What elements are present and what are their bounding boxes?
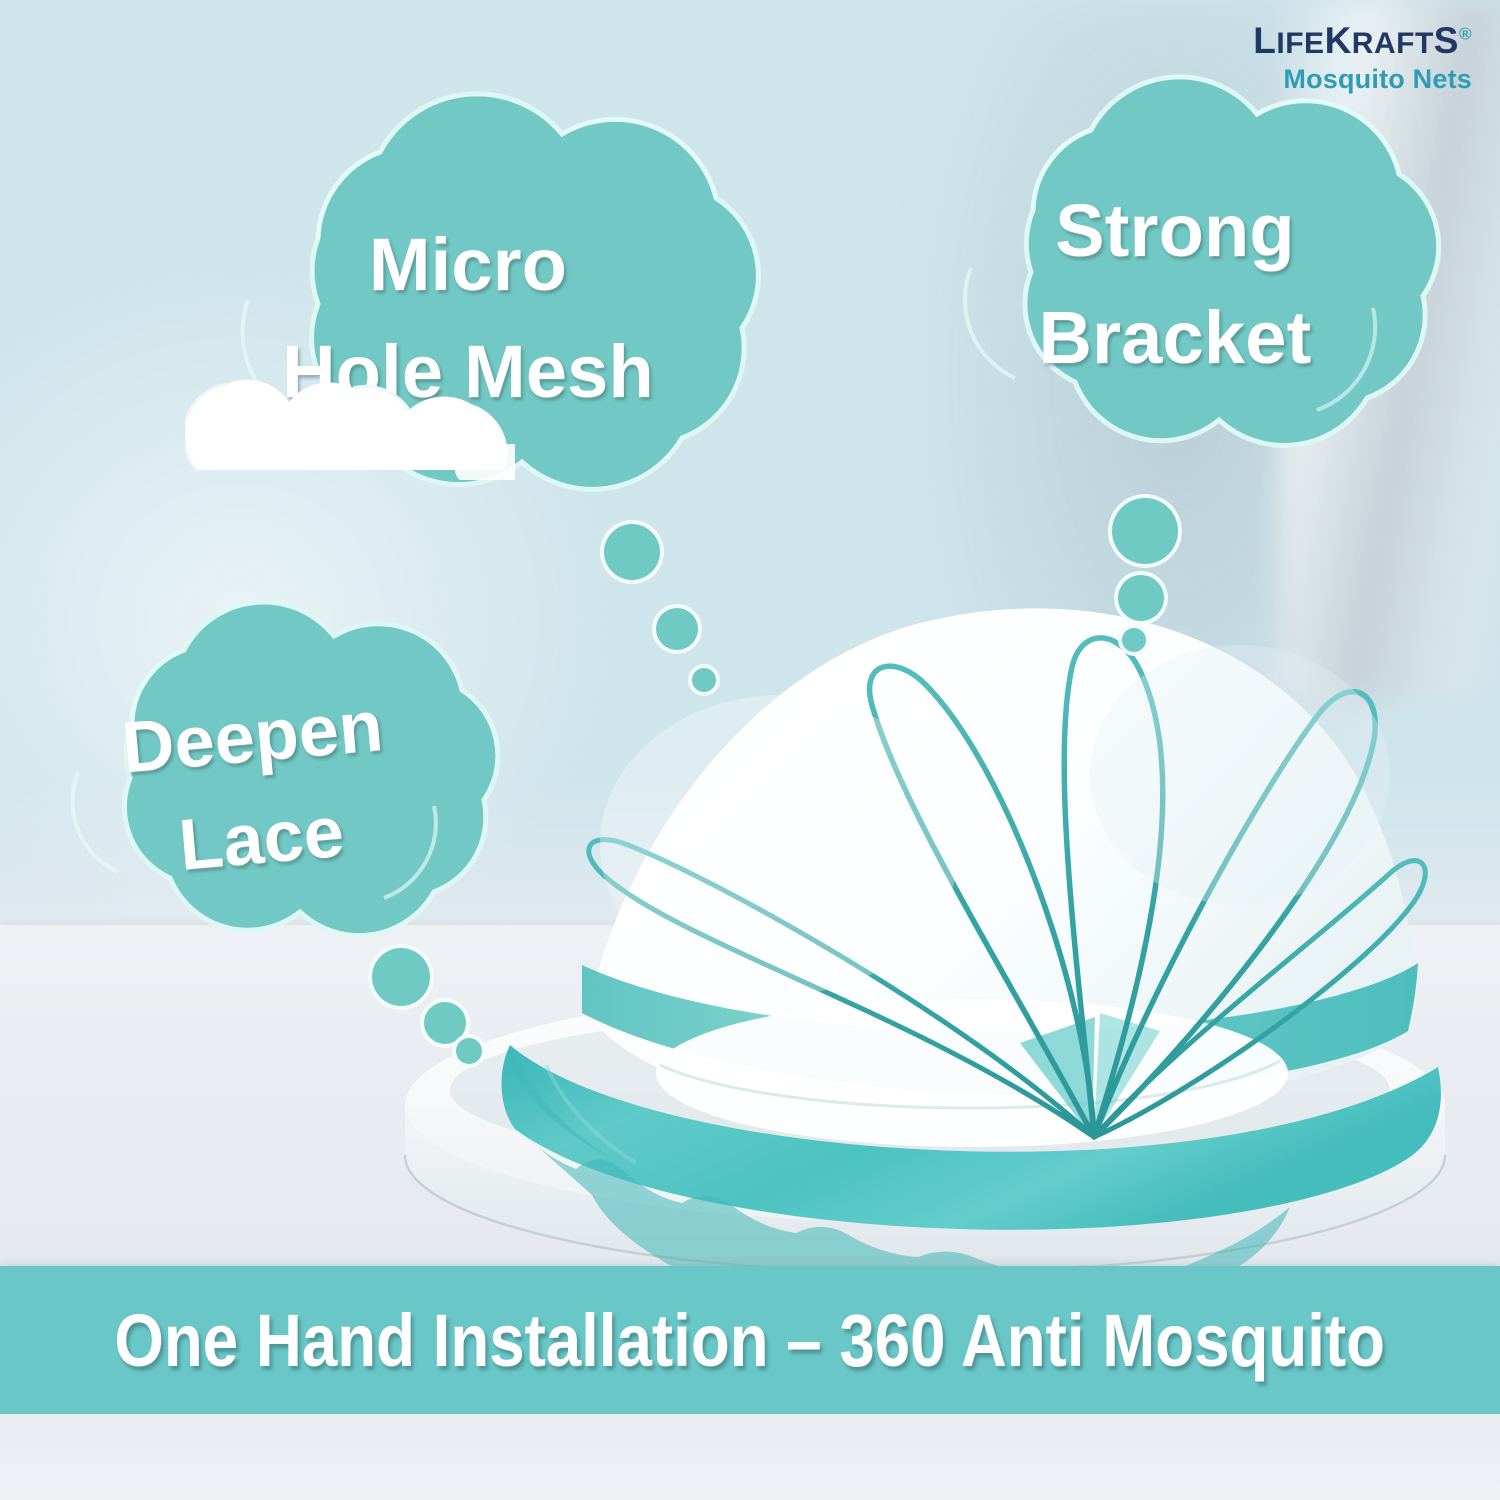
trail-bubble [604, 524, 660, 580]
brand-name-lead: L [1253, 20, 1276, 61]
brand-name-k: K [1325, 20, 1352, 61]
registered-trademark-icon: ® [1459, 25, 1472, 44]
trail-bubble [1122, 628, 1146, 652]
trail-bubble [456, 1038, 482, 1064]
feature-bubble-deepen-lace: Deepen Lace [22, 618, 492, 958]
trail-bubble [424, 1002, 466, 1044]
trail-bubble [1112, 498, 1178, 564]
product-image-mosquito-net [360, 545, 1490, 1285]
trail-bubble [656, 608, 698, 650]
product-marketing-image: Micro Hole Mesh Strong Bracket [0, 0, 1500, 1500]
trail-bubble [372, 948, 430, 1006]
brand-name: LIFEKRAFTS® [1253, 22, 1472, 59]
brand-name-part2: RAFT [1352, 27, 1434, 60]
bottom-banner-text: One Hand Installation – 360 Anti Mosquit… [115, 1298, 1386, 1383]
brand-name-s: S [1434, 20, 1459, 61]
bottom-banner: One Hand Installation – 360 Anti Mosquit… [0, 1266, 1500, 1414]
brand-tagline: Mosquito Nets [1253, 66, 1472, 93]
feature-bubble-strong-bracket: Strong Bracket [905, 98, 1445, 470]
trail-bubble [1118, 575, 1164, 621]
bottom-white-strip [0, 1414, 1500, 1500]
trail-bubble [692, 668, 716, 692]
brand-name-part1: IFE [1276, 27, 1324, 60]
cloud-white-puffs [185, 350, 515, 485]
brand-logo: LIFEKRAFTS® Mosquito Nets [1253, 22, 1472, 93]
